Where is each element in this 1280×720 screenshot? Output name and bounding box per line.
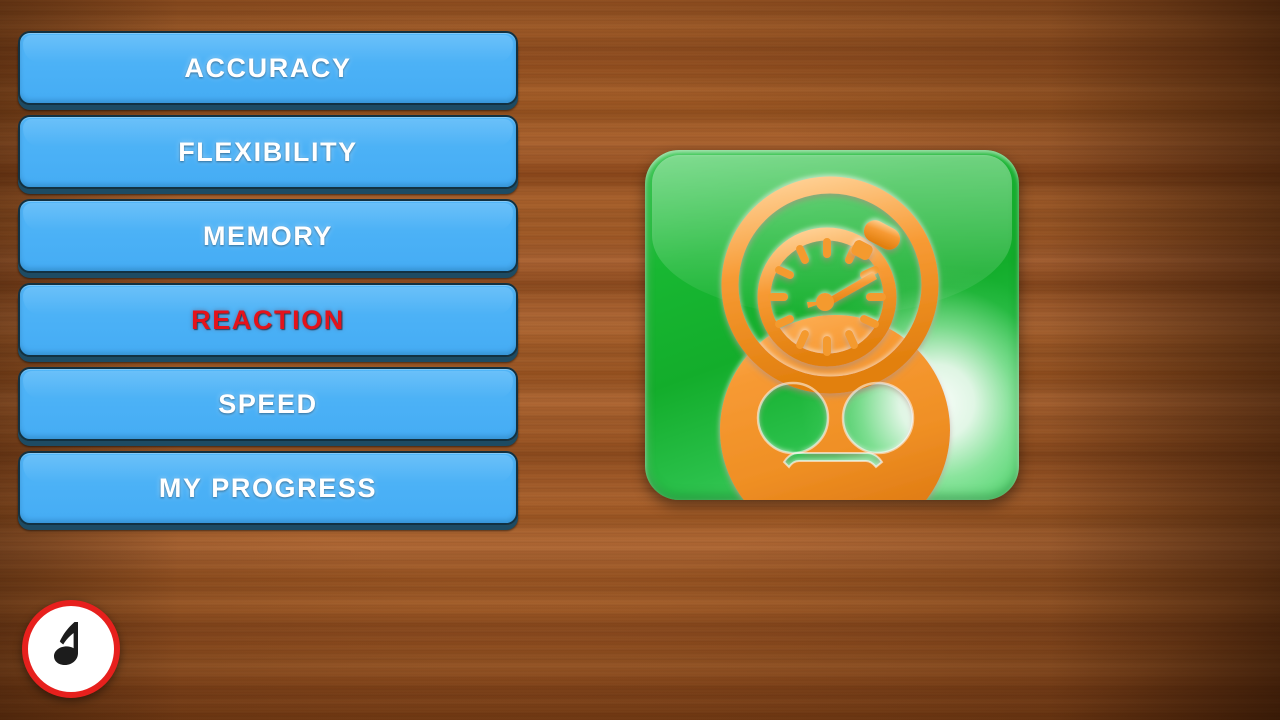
menu-item-label: ACCURACY bbox=[184, 53, 351, 84]
menu-item-label: REACTION bbox=[191, 305, 345, 336]
menu-item-label: MY PROGRESS bbox=[159, 473, 377, 504]
menu-item-label: SPEED bbox=[218, 389, 318, 420]
menu-item-label: FLEXIBILITY bbox=[178, 137, 358, 168]
menu-item-label: MEMORY bbox=[203, 221, 333, 252]
reaction-game-card[interactable] bbox=[645, 150, 1019, 500]
music-note-icon bbox=[45, 619, 97, 679]
music-toggle-button[interactable] bbox=[22, 600, 120, 698]
menu-item-reaction[interactable]: REACTION bbox=[18, 283, 518, 357]
menu-item-accuracy[interactable]: ACCURACY bbox=[18, 31, 518, 105]
stopwatch-face-icon bbox=[645, 150, 1019, 500]
menu-item-memory[interactable]: MEMORY bbox=[18, 199, 518, 273]
menu-item-speed[interactable]: SPEED bbox=[18, 367, 518, 441]
stopwatch-hand bbox=[807, 272, 877, 311]
main-menu: ACCURACY FLEXIBILITY MEMORY REACTION SPE… bbox=[18, 31, 518, 535]
menu-item-my-progress[interactable]: MY PROGRESS bbox=[18, 451, 518, 525]
app-screen: ACCURACY FLEXIBILITY MEMORY REACTION SPE… bbox=[0, 0, 1280, 720]
menu-item-flexibility[interactable]: FLEXIBILITY bbox=[18, 115, 518, 189]
